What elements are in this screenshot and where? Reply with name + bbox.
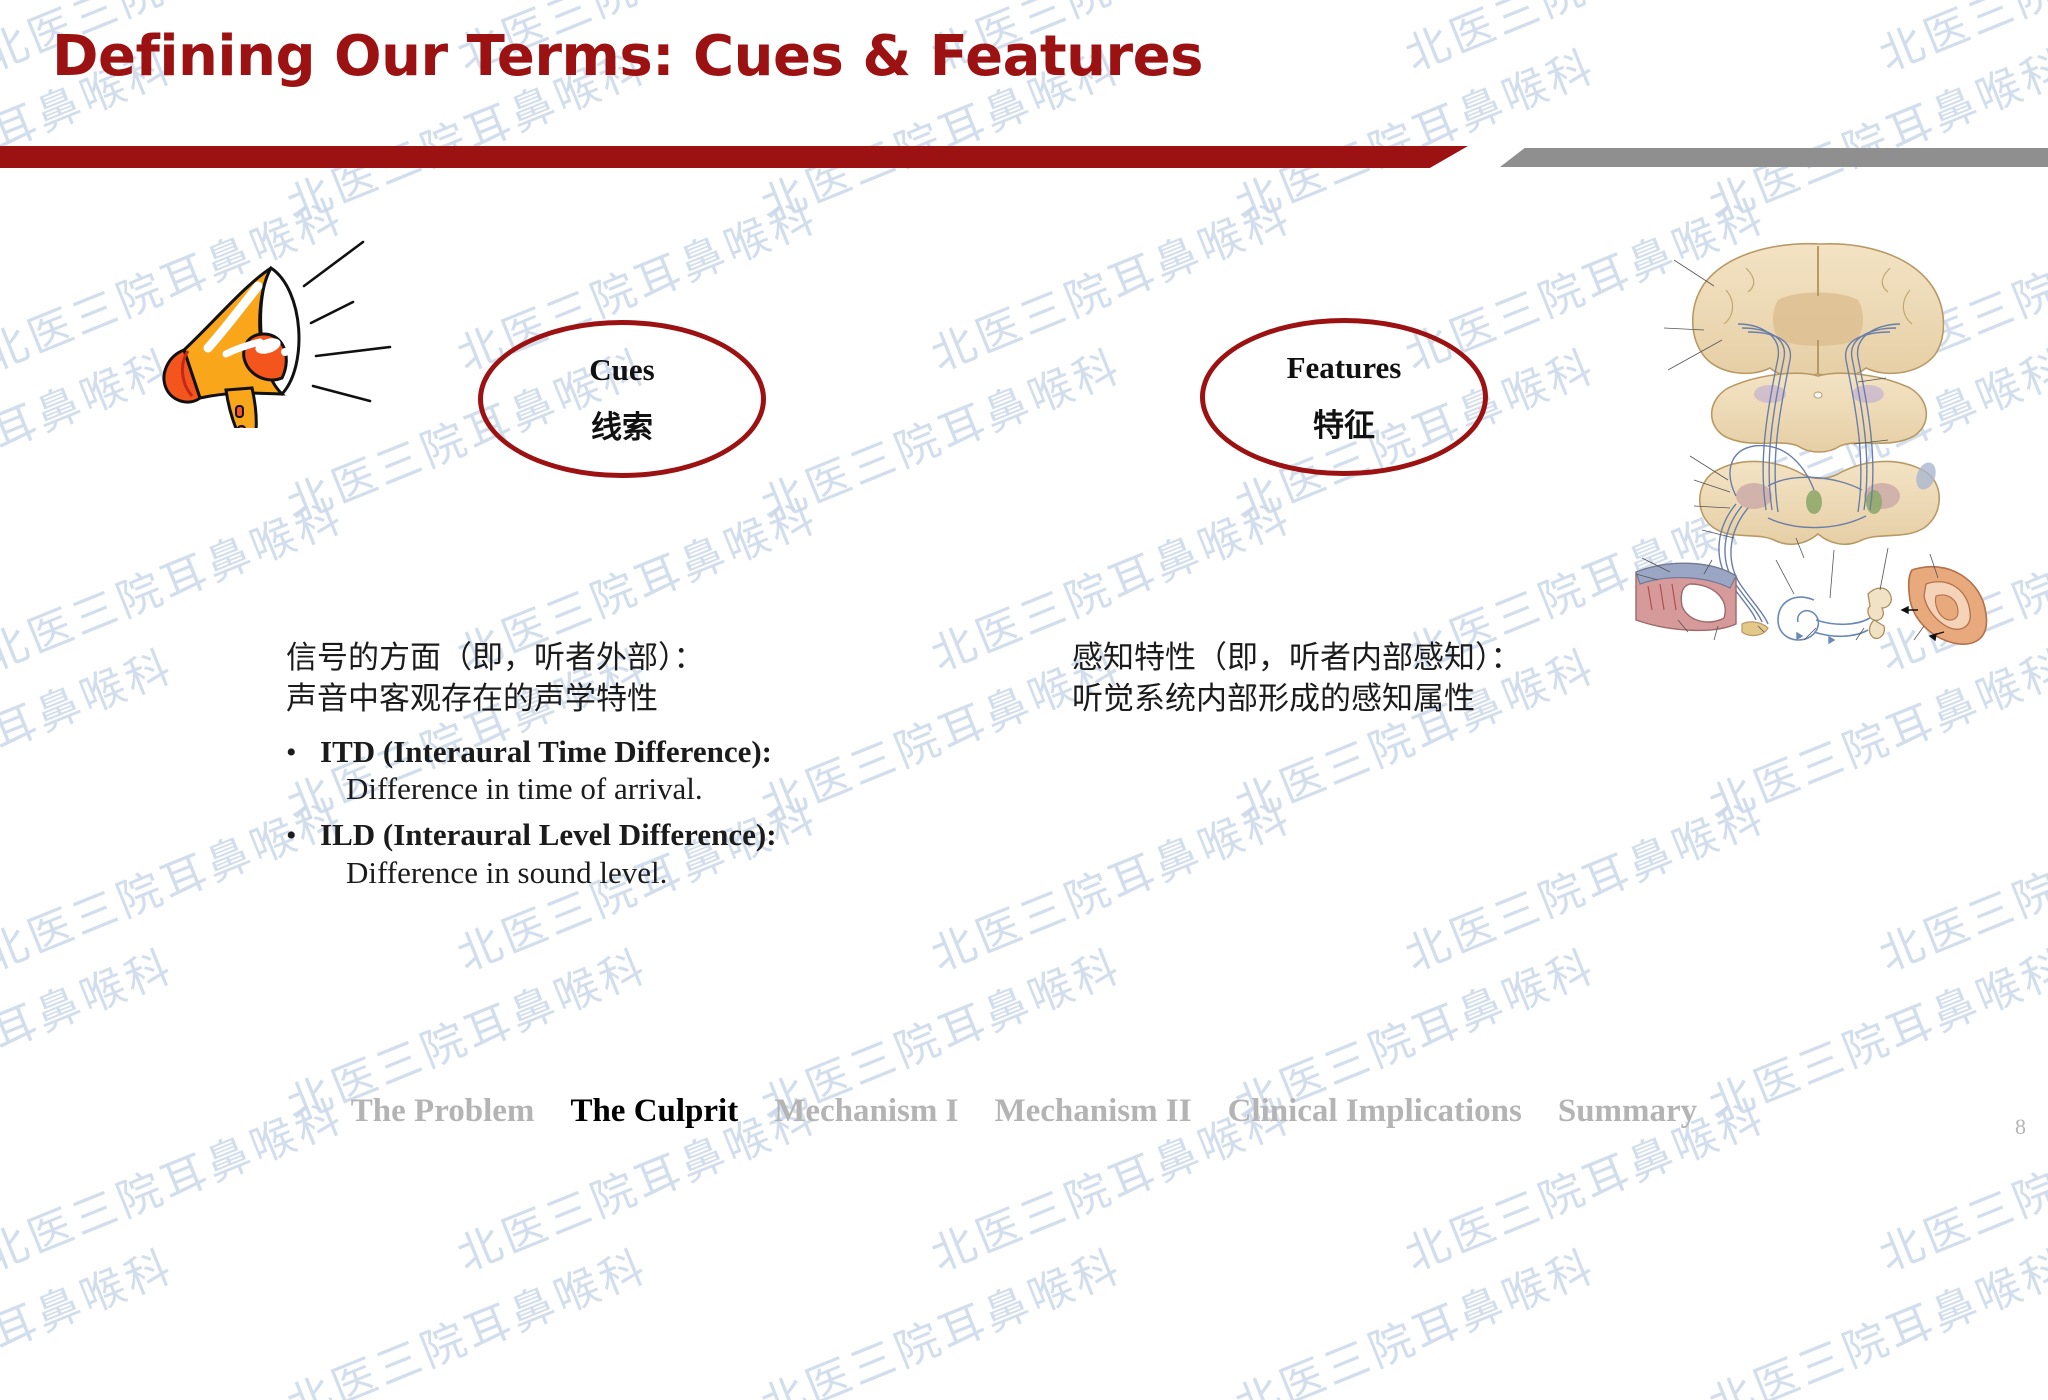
watermark-text: 北医三院耳鼻喉科 (0, 1230, 182, 1400)
watermark-row: 北医三院耳鼻喉科北医三院耳鼻喉科北医三院耳鼻喉科北医三院耳鼻喉科北医三院耳鼻喉科… (0, 1150, 2048, 1300)
nav-item-summary[interactable]: Summary (1558, 1093, 1697, 1130)
itd-description: Difference in time of arrival. (346, 770, 926, 809)
features-zh-line-1: 感知特性（即，听者内部感知）： (1072, 638, 1672, 679)
bullet-dot-icon: • (286, 819, 320, 854)
megaphone-icon (108, 228, 398, 428)
ild-term: ILD (Interaural Level Difference): (320, 817, 777, 853)
footer-section-nav[interactable]: The Problem The Culprit Mechanism I Mech… (0, 1093, 2048, 1130)
features-ellipse: Features 特征 (1200, 318, 1488, 476)
features-zh-line-2: 听觉系统内部形成的感知属性 (1072, 679, 1672, 720)
cues-label-zh: 线索 (591, 402, 653, 447)
watermark-text: 北医三院耳鼻喉科 (1698, 1230, 2048, 1400)
cues-label-en: Cues (589, 352, 654, 388)
slide-content: Cues 线索 Features 特征 信号的方面（即，听者外部）： 声音中客观… (0, 0, 2048, 1152)
features-label-zh: 特征 (1313, 400, 1375, 445)
watermark-text: 北医三院耳鼻喉科 (750, 1230, 1130, 1400)
nav-item-mechanism-ii[interactable]: Mechanism II (994, 1093, 1191, 1130)
watermark-row: 北医三院耳鼻喉科北医三院耳鼻喉科北医三院耳鼻喉科北医三院耳鼻喉科北医三院耳鼻喉科… (0, 1300, 2048, 1400)
auditory-pathway-diagram (1618, 228, 2022, 648)
page-number: 8 (2015, 1114, 2026, 1140)
list-item: • ILD (Interaural Level Difference): Dif… (286, 817, 926, 892)
cues-ellipse: Cues 线索 (478, 320, 766, 478)
itd-term: ITD (Interaural Time Difference): (320, 734, 772, 770)
bullet-dot-icon: • (286, 736, 320, 771)
watermark-text: 北医三院耳鼻喉科 (276, 1230, 656, 1400)
ild-description: Difference in sound level. (346, 854, 926, 893)
features-text-column: 感知特性（即，听者内部感知）： 听觉系统内部形成的感知属性 (1072, 638, 1672, 720)
watermark-text: 北医三院耳鼻喉科 (1224, 1230, 1604, 1400)
cues-bullet-list: • ITD (Interaural Time Difference): Diff… (286, 734, 926, 893)
nav-item-the-culprit[interactable]: The Culprit (570, 1093, 738, 1130)
cues-text-column: 信号的方面（即，听者外部）： 声音中客观存在的声学特性 • ITD (Inter… (286, 638, 926, 900)
cues-zh-line-1: 信号的方面（即，听者外部）： (286, 638, 926, 679)
list-item: • ITD (Interaural Time Difference): Diff… (286, 734, 926, 809)
nav-item-mechanism-i[interactable]: Mechanism I (774, 1093, 958, 1130)
cues-zh-line-2: 声音中客观存在的声学特性 (286, 679, 926, 720)
nav-item-the-problem[interactable]: The Problem (351, 1093, 535, 1130)
nav-item-clinical-implications[interactable]: Clinical Implications (1228, 1093, 1522, 1130)
features-label-en: Features (1287, 350, 1402, 386)
